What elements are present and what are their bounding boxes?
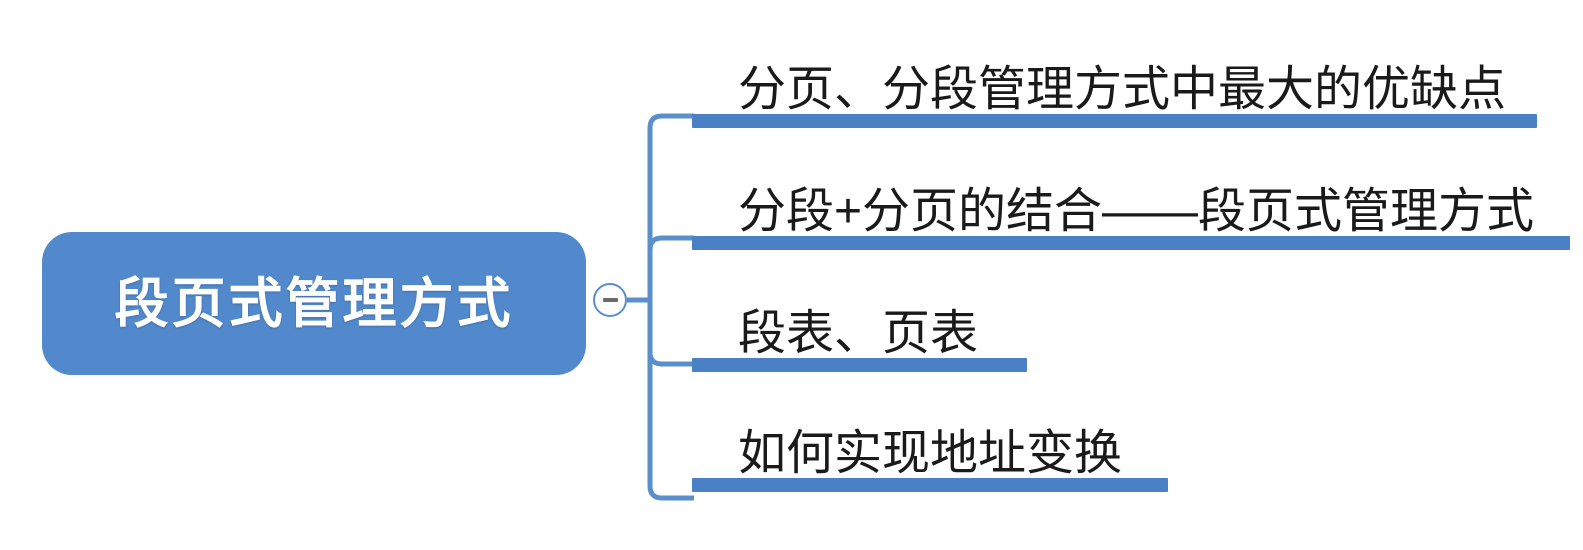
root-node[interactable]: 段页式管理方式	[42, 232, 586, 375]
branch-node[interactable]: 分段+分页的结合——段页式管理方式	[692, 152, 1570, 250]
branch-label: 分段+分页的结合——段页式管理方式	[738, 188, 1534, 236]
branch-underline-bar	[692, 478, 1168, 492]
branch-label: 如何实现地址变换	[738, 430, 1122, 478]
root-node-label: 段页式管理方式	[115, 277, 514, 331]
branch-underline-bar	[692, 236, 1570, 250]
branch-label: 分页、分段管理方式中最大的优缺点	[738, 66, 1506, 114]
branch-node[interactable]: 如何实现地址变换	[692, 394, 1168, 492]
mindmap-canvas: 段页式管理方式 分页、分段管理方式中最大的优缺点 分段+分页的结合——段页式管理…	[0, 0, 1583, 550]
branch-node[interactable]: 段表、页表	[692, 274, 1027, 372]
branch-underline-bar	[692, 358, 1027, 372]
collapse-toggle-minus-icon[interactable]	[593, 283, 627, 317]
minus-icon	[603, 298, 618, 302]
branch-node[interactable]: 分页、分段管理方式中最大的优缺点	[692, 30, 1537, 128]
branch-underline-bar	[692, 114, 1537, 128]
branch-label: 段表、页表	[738, 310, 978, 358]
